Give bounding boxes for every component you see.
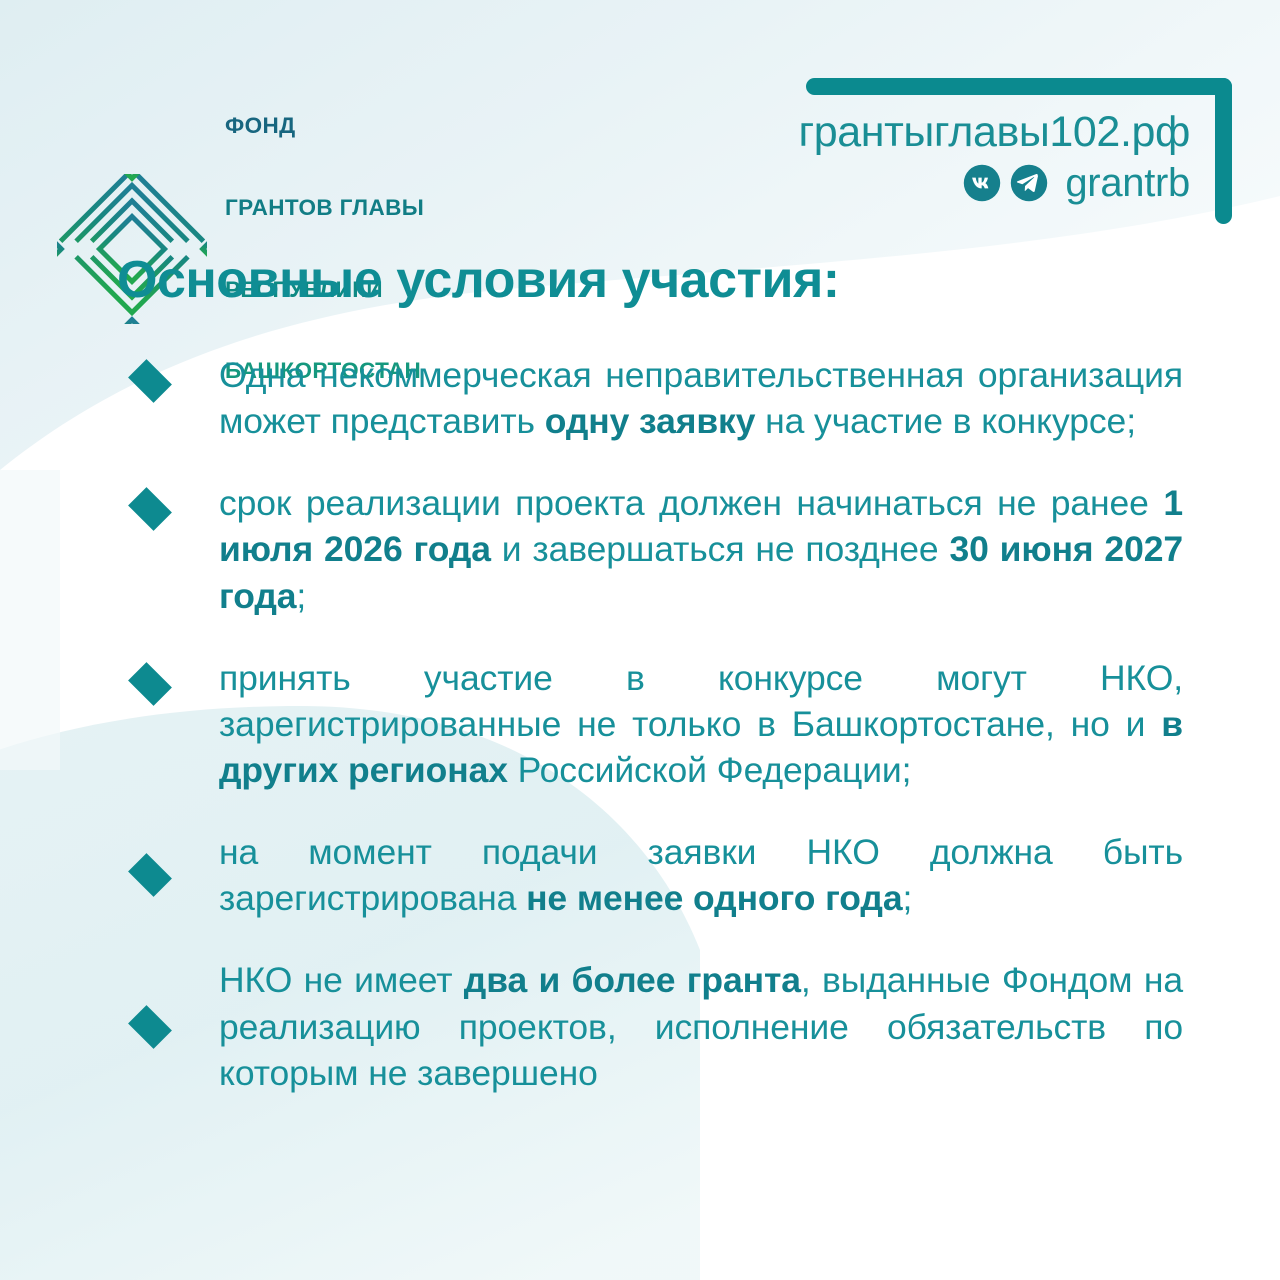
list-item-text: Одна некоммерческая неправительственная … (219, 352, 1183, 444)
bracket-right-bar (1215, 78, 1232, 224)
diamond-bullet-icon (128, 662, 172, 706)
bracket-top-bar (806, 78, 1232, 95)
list-item-text: на момент подачи заявки НКО должна быть … (219, 829, 1183, 921)
telegram-icon[interactable] (1010, 164, 1048, 202)
contact-block: грантыглавы102.рф grantrb (700, 110, 1190, 203)
list-item: принять участие в конкурсе могут НКО, за… (128, 655, 1183, 793)
body-text: Российской Федерации; (508, 750, 912, 790)
list-item: Одна некоммерческая неправительственная … (128, 352, 1183, 444)
body-text: НКО не имеет (219, 960, 464, 1000)
brand-name-line-1: ФОНД (225, 112, 424, 139)
list-item: НКО не имеет два и более гранта, выданны… (128, 957, 1183, 1095)
list-item-text: принять участие в конкурсе могут НКО, за… (219, 655, 1183, 793)
body-text: срок реализации проекта должен начинатьс… (219, 483, 1163, 523)
list-item-text: НКО не имеет два и более гранта, выданны… (219, 957, 1183, 1095)
list-item: на момент подачи заявки НКО должна быть … (128, 829, 1183, 921)
page-title: Основные условия участия: (117, 250, 840, 310)
website-url[interactable]: грантыглавы102.рф (700, 110, 1190, 155)
brand-name-line-2: ГРАНТОВ ГЛАВЫ (225, 194, 424, 221)
conditions-list: Одна некоммерческая неправительственная … (128, 352, 1183, 1132)
body-text: на участие в конкурсе; (755, 401, 1136, 441)
list-item: срок реализации проекта должен начинатьс… (128, 480, 1183, 618)
body-text: ; (902, 878, 912, 918)
body-text: ; (296, 576, 306, 616)
body-text: принять участие в конкурсе могут НКО, за… (219, 658, 1183, 744)
vk-icon[interactable] (963, 164, 1001, 202)
diamond-bullet-icon (128, 1005, 172, 1049)
emphasis-text: одну заявку (545, 401, 756, 441)
diamond-bullet-icon (128, 487, 172, 531)
poster-canvas: ФОНД ГРАНТОВ ГЛАВЫ РЕСПУБЛИКИ БАШКОРТОСТ… (0, 0, 1280, 1280)
emphasis-text: не менее одного года (526, 878, 902, 918)
list-item-text: срок реализации проекта должен начинатьс… (219, 480, 1183, 618)
body-text: и завершаться не позднее (491, 529, 950, 569)
diamond-bullet-icon (128, 853, 172, 897)
emphasis-text: два и более гранта (464, 960, 801, 1000)
poster-header: ФОНД ГРАНТОВ ГЛАВЫ РЕСПУБЛИКИ БАШКОРТОСТ… (0, 0, 1280, 240)
social-row: grantrb (700, 163, 1190, 203)
social-handle[interactable]: grantrb (1065, 163, 1190, 203)
diamond-bullet-icon (128, 359, 172, 403)
